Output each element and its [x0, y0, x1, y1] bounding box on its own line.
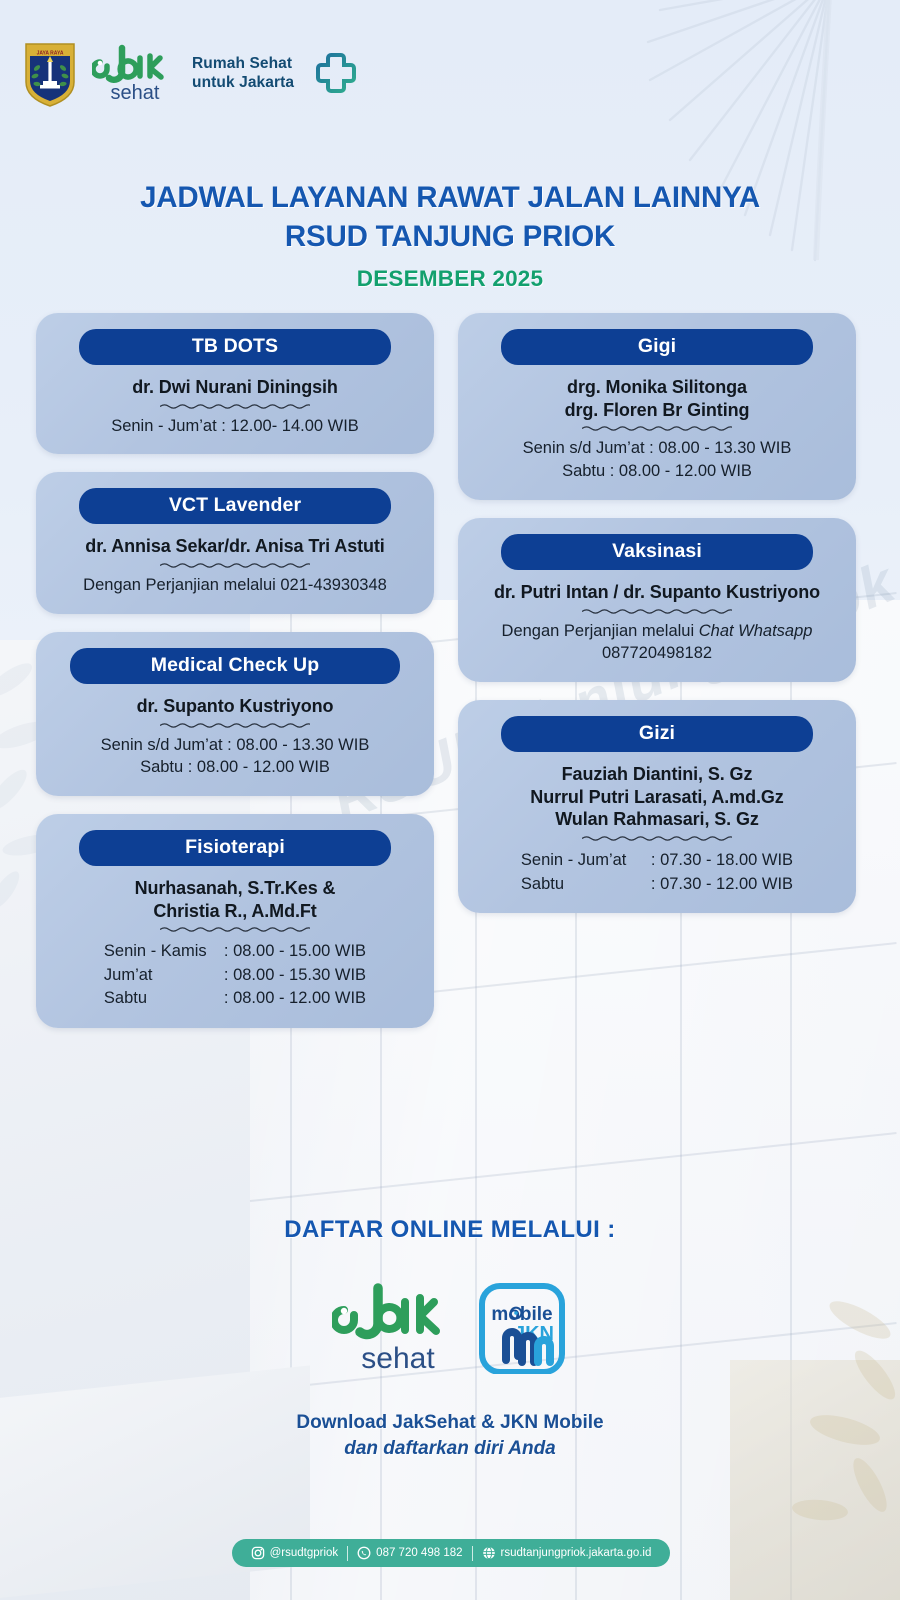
service-hours: Senin s/d Jum’at : 08.00 - 13.30 WIBSabt… — [50, 734, 420, 780]
doctor-names: dr. Putri Intan / dr. Supanto Kustriyono — [472, 581, 842, 604]
service-card-title: Gizi — [501, 716, 813, 752]
website-contact[interactable]: rsudtanjungpriok.jakarta.go.id — [482, 1546, 652, 1560]
service-time: : 07.30 - 12.00 WIB — [651, 873, 793, 896]
title-line-2: RSUD TANJUNG PRIOK — [0, 217, 900, 256]
instagram-contact[interactable]: @rsudtgpriok — [251, 1546, 339, 1560]
doctor-names: Nurhasanah, S.Tr.Kes &Christia R., A.Md.… — [50, 877, 420, 922]
schedule-column-left: TB DOTSdr. Dwi Nurani DiningsihSenin - J… — [36, 313, 434, 1046]
service-hours-row: Sabtu: 07.30 - 12.00 WIB — [521, 873, 793, 896]
header-logos: JAYA RAYA sehat Rum — [22, 38, 358, 108]
service-hours-line: Dengan Perjanjian melalui Chat Whatsapp — [472, 620, 842, 643]
download-instruction: Download JakSehat & JKN Mobile dan dafta… — [0, 1410, 900, 1461]
medical-cross-icon — [314, 51, 358, 95]
service-card-title: Medical Check Up — [70, 648, 400, 684]
jakarta-emblem: JAYA RAYA — [22, 38, 78, 108]
doctor-name: Wulan Rahmasari, S. Gz — [472, 808, 842, 831]
doctor-name: dr. Dwi Nurani Diningsih — [50, 376, 420, 399]
service-hours-table: Senin - Jum’at: 07.30 - 18.00 WIBSabtu: … — [521, 849, 793, 896]
doctor-name: Christia R., A.Md.Ft — [50, 900, 420, 923]
wave-divider-wrap — [50, 721, 420, 730]
wave-divider-wrap — [50, 561, 420, 570]
service-hours-line: 087720498182 — [472, 642, 842, 665]
whatsapp-number: 087 720 498 182 — [376, 1547, 462, 1559]
service-hours-table: Senin - Kamis: 08.00 - 15.00 WIBJum’at: … — [104, 940, 366, 1010]
service-hours-line: Sabtu : 08.00 - 12.00 WIB — [472, 460, 842, 483]
service-hours-row: Senin - Jum’at: 07.30 - 18.00 WIB — [521, 849, 793, 872]
wave-divider — [160, 721, 310, 730]
service-hours-line: Sabtu : 08.00 - 12.00 WIB — [50, 756, 420, 779]
service-time: : 07.30 - 18.00 WIB — [651, 849, 793, 872]
service-hours: Senin - Jum’at : 12.00- 14.00 WIB — [50, 415, 420, 438]
doctor-names: drg. Monika Silitongadrg. Floren Br Gint… — [472, 376, 842, 421]
website-url: rsudtanjungpriok.jakarta.go.id — [501, 1547, 652, 1559]
doctor-name: dr. Putri Intan / dr. Supanto Kustriyono — [472, 581, 842, 604]
service-card: VCT Lavenderdr. Annisa Sekar/dr. Anisa T… — [36, 472, 434, 613]
wave-divider — [582, 424, 732, 433]
service-card: Medical Check Updr. Supanto KustriyonoSe… — [36, 632, 434, 796]
service-time: : 08.00 - 15.00 WIB — [224, 940, 366, 963]
doctor-names: dr. Annisa Sekar/dr. Anisa Tri Astuti — [50, 535, 420, 558]
wave-divider-wrap — [50, 925, 420, 934]
service-card-title: Fisioterapi — [79, 830, 391, 866]
download-line-1: Download JakSehat & JKN Mobile — [0, 1410, 900, 1436]
doctor-names: dr. Supanto Kustriyono — [50, 695, 420, 718]
service-card: GiziFauziah Diantini, S. GzNurrul Putri … — [458, 700, 856, 913]
service-card-title: TB DOTS — [79, 329, 391, 365]
poster-canvas: RSUD Tanjung Priok JAYA RAYA — [0, 0, 900, 1600]
title-line-1: JADWAL LAYANAN RAWAT JALAN LAINNYA — [0, 178, 900, 217]
page-title: JADWAL LAYANAN RAWAT JALAN LAINNYA RSUD … — [0, 178, 900, 256]
schedule-cards: TB DOTSdr. Dwi Nurani DiningsihSenin - J… — [0, 313, 900, 1013]
service-card: TB DOTSdr. Dwi Nurani DiningsihSenin - J… — [36, 313, 434, 454]
wave-divider — [160, 402, 310, 411]
doctor-name: drg. Floren Br Ginting — [472, 399, 842, 422]
whatsapp-contact[interactable]: 087 720 498 182 — [357, 1546, 462, 1560]
service-day: Jum’at — [104, 964, 224, 987]
service-hours-line: Dengan Perjanjian melalui 021-43930348 — [50, 574, 420, 597]
footer-divider — [347, 1546, 348, 1561]
service-hours-line: Senin - Jum’at : 12.00- 14.00 WIB — [50, 415, 420, 438]
service-day: Senin - Kamis — [104, 940, 224, 963]
wave-divider — [582, 834, 732, 843]
daftar-online-heading: DAFTAR ONLINE MELALUI : — [0, 1216, 900, 1244]
mobile-jkn-logo[interactable]: mobile JKN — [476, 1282, 568, 1374]
schedule-column-right: Gigidrg. Monika Silitongadrg. Floren Br … — [458, 313, 856, 931]
service-hours-line: Senin s/d Jum’at : 08.00 - 13.30 WIB — [472, 437, 842, 460]
footer-divider — [472, 1546, 473, 1561]
app-logos: sehat mobile JKN — [0, 1280, 900, 1376]
service-day: Sabtu — [521, 873, 651, 896]
rumah-sehat-tagline: Rumah Sehat untuk Jakarta — [192, 53, 294, 93]
service-hours-line: Senin s/d Jum’at : 08.00 - 13.30 WIB — [50, 734, 420, 757]
poster-title-block: JADWAL LAYANAN RAWAT JALAN LAINNYA RSUD … — [0, 178, 900, 292]
contact-footer-bar: @rsudtgpriok 087 720 498 182 rsudtanjung… — [232, 1539, 670, 1567]
service-hours-row: Sabtu: 08.00 - 12.00 WIB — [104, 987, 366, 1010]
service-hours: Dengan Perjanjian melalui Chat Whatsapp0… — [472, 620, 842, 666]
service-hours-row: Senin - Kamis: 08.00 - 15.00 WIB — [104, 940, 366, 963]
service-hours: Senin s/d Jum’at : 08.00 - 13.30 WIBSabt… — [472, 437, 842, 483]
service-card: Vaksinasidr. Putri Intan / dr. Supanto K… — [458, 518, 856, 682]
service-card-title: Vaksinasi — [501, 534, 813, 570]
doctor-name: dr. Annisa Sekar/dr. Anisa Tri Astuti — [50, 535, 420, 558]
service-day: Sabtu — [104, 987, 224, 1010]
wave-divider — [160, 561, 310, 570]
jaksehat-app-logo[interactable]: sehat — [332, 1280, 460, 1376]
instagram-icon — [251, 1546, 265, 1560]
title-period: DESEMBER 2025 — [0, 266, 900, 292]
tagline-line-1: Rumah Sehat — [192, 55, 294, 74]
service-card-title: Gigi — [501, 329, 813, 365]
tagline-line-2: untuk Jakarta — [192, 74, 294, 93]
wave-divider-wrap — [472, 424, 842, 433]
globe-icon — [482, 1546, 496, 1560]
doctor-names: Fauziah Diantini, S. GzNurrul Putri Lara… — [472, 763, 842, 831]
doctor-name: Nurhasanah, S.Tr.Kes & — [50, 877, 420, 900]
service-time: : 08.00 - 15.30 WIB — [224, 964, 366, 987]
doctor-names: dr. Dwi Nurani Diningsih — [50, 376, 420, 399]
svg-text:sehat: sehat — [111, 82, 160, 104]
wave-divider — [582, 607, 732, 616]
service-card-title: VCT Lavender — [79, 488, 391, 524]
whatsapp-icon — [357, 1546, 371, 1560]
instagram-handle: @rsudtgpriok — [270, 1547, 339, 1559]
doctor-name: drg. Monika Silitonga — [472, 376, 842, 399]
wave-divider-wrap — [472, 834, 842, 843]
service-hours-row: Jum’at: 08.00 - 15.30 WIB — [104, 964, 366, 987]
wave-divider-wrap — [50, 402, 420, 411]
wave-divider-wrap — [472, 607, 842, 616]
doctor-name: Nurrul Putri Larasati, A.md.Gz — [472, 786, 842, 809]
service-hours-emphasis: Chat Whatsapp — [699, 622, 813, 640]
service-hours: Dengan Perjanjian melalui 021-43930348 — [50, 574, 420, 597]
download-line-2: dan daftarkan diri Anda — [0, 1436, 900, 1462]
jaksehat-logo: sehat — [92, 42, 178, 104]
service-card: Gigidrg. Monika Silitongadrg. Floren Br … — [458, 313, 856, 500]
svg-text:sehat: sehat — [361, 1342, 435, 1375]
svg-text:JAYA RAYA: JAYA RAYA — [37, 51, 64, 57]
service-time: : 08.00 - 12.00 WIB — [224, 987, 366, 1010]
service-day: Senin - Jum’at — [521, 849, 651, 872]
doctor-name: Fauziah Diantini, S. Gz — [472, 763, 842, 786]
wave-divider — [160, 925, 310, 934]
service-card: FisioterapiNurhasanah, S.Tr.Kes &Christi… — [36, 814, 434, 1028]
doctor-name: dr. Supanto Kustriyono — [50, 695, 420, 718]
